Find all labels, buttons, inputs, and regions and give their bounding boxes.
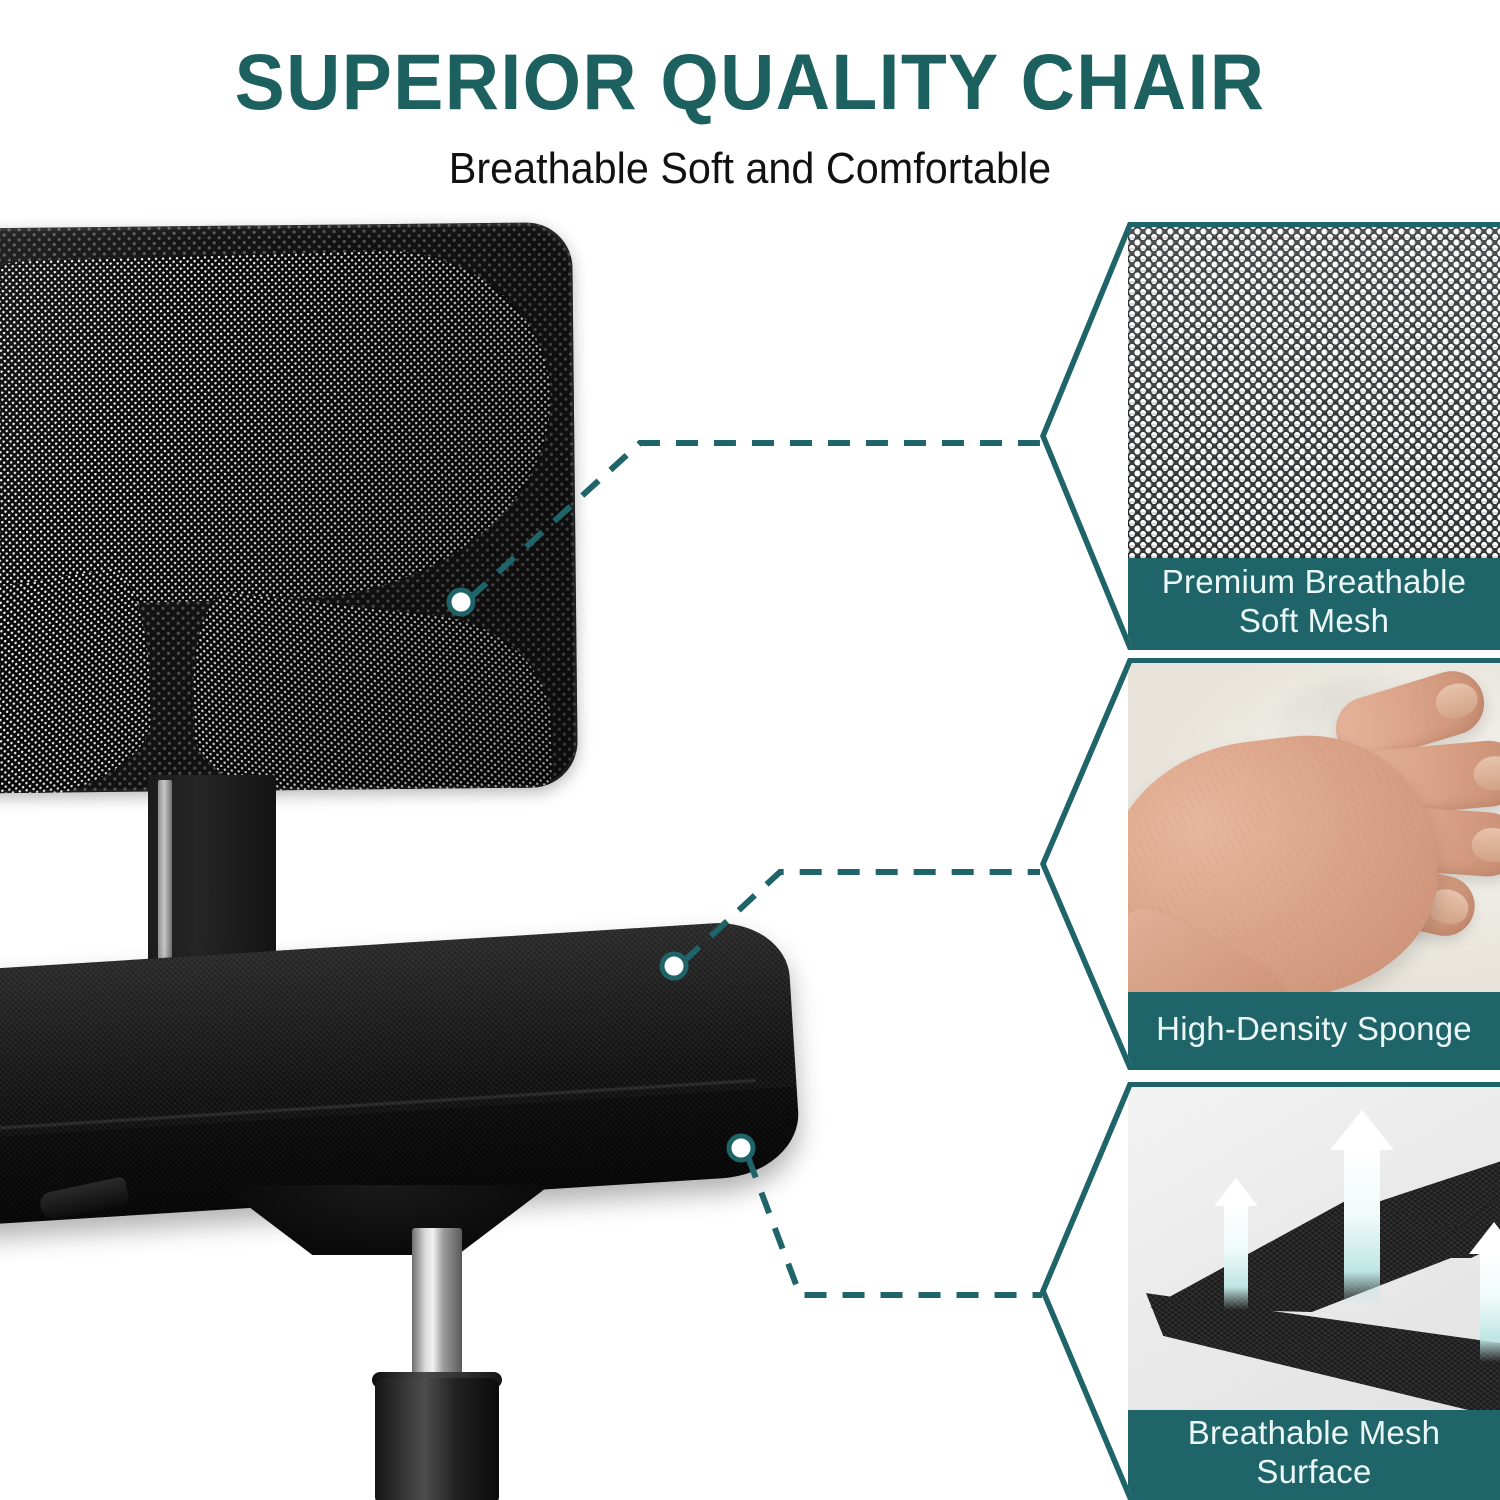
callout-media-hand-on-foam <box>1128 658 1500 992</box>
product-photo-chair <box>0 0 840 1500</box>
callout-media-mesh-layers <box>1128 1082 1500 1410</box>
callout-caption-mesh: Premium Breathable Soft Mesh <box>1128 558 1500 650</box>
arrow-head <box>1330 1110 1394 1150</box>
up-arrow-icon-center <box>1314 1110 1410 1306</box>
fingernail <box>1471 826 1500 863</box>
arrow-stem <box>1480 1252 1500 1362</box>
callout-media-mesh-closeup <box>1128 222 1500 558</box>
fingernail <box>1432 678 1482 723</box>
callout-panel-sponge-inner: High-Density Sponge <box>1040 658 1500 1070</box>
mesh-weave-texture <box>1128 222 1500 558</box>
callout-panel-surface[interactable]: Breathable Mesh Surface <box>1040 1082 1500 1500</box>
fingernail <box>1472 754 1500 792</box>
callout-caption-surface: Breathable Mesh Surface <box>1128 1410 1500 1500</box>
callout-caption-sponge: High-Density Sponge <box>1128 992 1500 1070</box>
up-arrow-icon-left <box>1204 1178 1268 1310</box>
backrest-mesh-window-top <box>0 246 556 610</box>
seat-underside-plate <box>220 1185 550 1255</box>
gas-lift-shaft <box>412 1228 462 1388</box>
chair-support-post-metal-strip <box>158 780 172 976</box>
callout-panel-mesh-inner: Premium Breathable Soft Mesh <box>1040 222 1500 650</box>
callout-panel-sponge[interactable]: High-Density Sponge <box>1040 658 1500 1070</box>
up-arrow-icon-right <box>1458 1222 1500 1362</box>
chair-backrest <box>0 222 578 795</box>
arrow-head <box>1469 1222 1500 1254</box>
arrow-head <box>1214 1178 1258 1206</box>
infographic-canvas: SUPERIOR QUALITY CHAIR Breathable Soft a… <box>0 0 1500 1500</box>
callout-panel-surface-inner: Breathable Mesh Surface <box>1040 1082 1500 1500</box>
arrow-stem <box>1224 1204 1248 1310</box>
arrow-stem <box>1344 1148 1380 1306</box>
mesh-texture <box>0 562 153 794</box>
backrest-mesh-window-bottom-left <box>0 562 153 794</box>
mesh-texture <box>0 246 556 610</box>
callout-panel-mesh[interactable]: Premium Breathable Soft Mesh <box>1040 222 1500 650</box>
gas-lift-cylinder <box>375 1378 499 1500</box>
